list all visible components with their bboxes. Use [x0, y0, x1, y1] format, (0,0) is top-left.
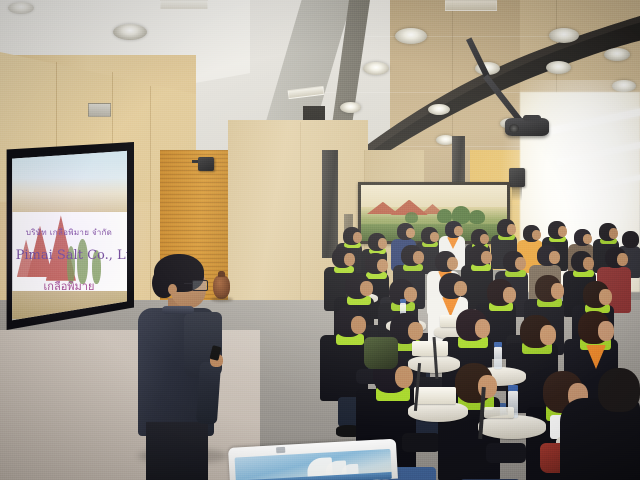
downlight-icon	[113, 24, 147, 40]
projector-top	[523, 115, 541, 121]
monitor-brand-logo	[276, 447, 285, 453]
wall-speaker	[509, 168, 525, 187]
lunch-box	[484, 407, 514, 418]
downlight-icon	[8, 2, 34, 14]
wall-vent	[88, 103, 111, 117]
presenter-glasses	[192, 280, 208, 291]
lunch-box	[414, 387, 456, 404]
projector-lens	[509, 124, 519, 133]
presenter-trousers	[146, 422, 208, 480]
speaker-shadow	[512, 187, 522, 201]
monitor-screen	[235, 449, 392, 480]
downlight-icon	[428, 104, 450, 115]
downlight-icon	[549, 28, 579, 43]
lunch-box	[412, 341, 448, 356]
wall-speaker	[198, 157, 214, 171]
ceiling-fixture	[445, 0, 497, 11]
screen-light-spill	[0, 150, 150, 330]
tablet-desk	[478, 415, 546, 439]
wall-seam	[300, 122, 301, 318]
downlight-icon	[363, 62, 389, 75]
downlight-icon	[395, 28, 427, 44]
backpack	[364, 337, 398, 369]
presenter-arm	[196, 361, 221, 424]
water-bottle	[494, 347, 502, 369]
downlight-icon	[340, 102, 361, 113]
downlight-icon	[546, 61, 571, 74]
foreground-student-head	[598, 368, 640, 412]
downlight-icon	[604, 48, 630, 61]
ceiling-fixture	[160, 0, 208, 10]
seminar-room-photo: บริษัท เกลือพิมาย จำกัด Pimai Salt Co., …	[0, 0, 640, 480]
